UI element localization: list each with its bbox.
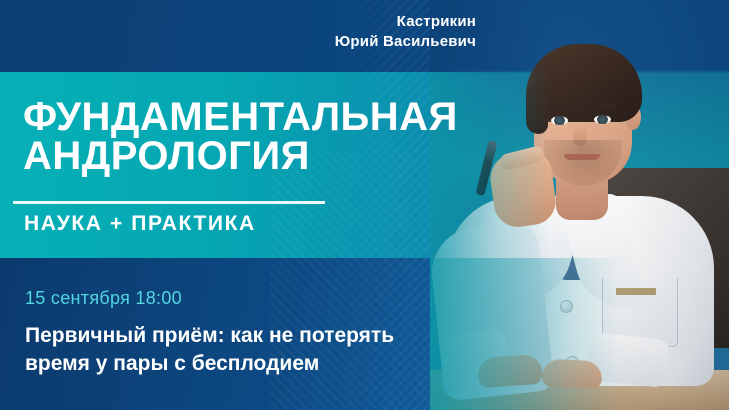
speaker-photo [430,0,729,410]
headline-line-1: Первичный приём: как не потерять [25,322,455,350]
coat-button-upper [560,300,573,313]
title-block: ФУНДАМЕНТАЛЬНАЯ АНДРОЛОГИЯ [23,98,458,176]
title-line-2: АНДРОЛОГИЯ [23,137,458,176]
title-line-1: ФУНДАМЕНТАЛЬНАЯ [23,95,458,139]
mouth [564,154,600,160]
speaker-first-patronymic: Юрий Васильевич [250,32,476,52]
event-headline: Первичный приём: как не потерять время у… [25,322,455,378]
resting-hand-right [541,358,602,389]
headline-line-2: время у пары с бесплодием [25,350,455,378]
resting-hand-left [477,354,543,388]
hair-sideburn [526,82,548,134]
title-divider [13,201,325,204]
page-title: ФУНДАМЕНТАЛЬНАЯ АНДРОЛОГИЯ [23,98,458,176]
speaker-name: Кастрикин Юрий Васильевич [250,12,476,53]
webinar-banner: Кастрикин Юрий Васильевич ФУНДАМЕНТАЛЬНА… [0,0,729,410]
eye-right [594,115,611,124]
pocket-label [616,288,656,295]
event-datetime: 15 сентября 18:00 [25,288,182,309]
speaker-last-name: Кастрикин [250,12,476,32]
eye-left [551,116,568,125]
subtitle: НАУКА + ПРАКТИКА [24,212,256,236]
